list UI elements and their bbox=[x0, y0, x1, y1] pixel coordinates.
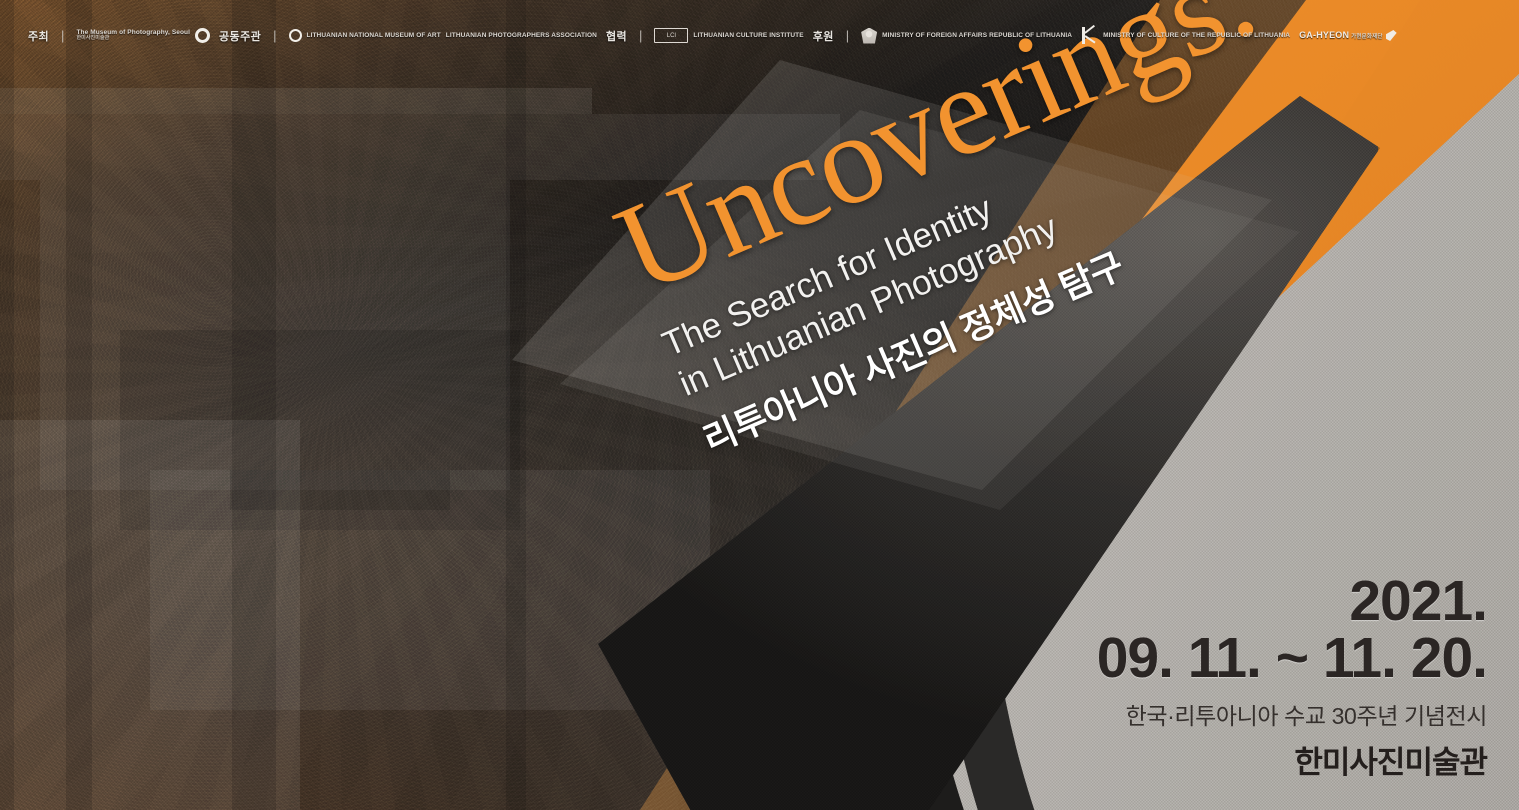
gahyeon-name: GA-HYEON bbox=[1299, 30, 1349, 40]
k-mark-icon bbox=[1081, 26, 1098, 45]
museum-logo-name-kr: 한미사진미술관 bbox=[76, 36, 190, 42]
logo-museum-of-photography-seoul: The Museum of Photography, Seoul 한미사진미술관 bbox=[76, 28, 210, 43]
co-organizer-logo-name: LITHUANIAN NATIONAL MUSEUM OF ART bbox=[307, 32, 441, 40]
credit-separator: | bbox=[846, 28, 849, 43]
credit-label-host: 주최 bbox=[28, 28, 49, 44]
exhibition-note: 한국·리투아니아 수교 30주년 기념전시 bbox=[1097, 697, 1487, 731]
credit-separator: | bbox=[639, 28, 642, 43]
sponsor-logo-name-2: MINISTRY OF CULTURE OF THE REPUBLIC OF L… bbox=[1103, 32, 1290, 40]
gahyeon-mark-icon bbox=[1386, 30, 1397, 41]
credit-bar: 주최 | The Museum of Photography, Seoul 한미… bbox=[28, 26, 1397, 45]
exhibition-poster: Uncoverings. The Search for Identity in … bbox=[0, 0, 1519, 810]
credit-separator: | bbox=[273, 28, 276, 43]
co-organizer-logo-name-2: LITHUANIAN PHOTOGRAPHERS ASSOCIATION bbox=[446, 32, 597, 40]
logo-lithuanian-culture-institute: LCI LITHUANIAN CULTURE INSTITUTE bbox=[654, 28, 803, 43]
credit-label-cooperation: 협력 bbox=[606, 28, 627, 44]
exhibition-year: 2021. bbox=[1097, 574, 1487, 629]
exhibition-info-block: 2021. 09. 11. ~ 11. 20. 한국·리투아니아 수교 30주년… bbox=[1097, 574, 1487, 782]
credit-separator: | bbox=[61, 28, 64, 43]
open-book-icon: LCI bbox=[654, 28, 688, 43]
logo-lithuanian-museums: LITHUANIAN NATIONAL MUSEUM OF ART LITHUA… bbox=[289, 29, 597, 42]
crest-icon bbox=[861, 28, 877, 44]
gahyeon-name-kr: 가현문화재단 bbox=[1351, 34, 1383, 40]
credit-label-co-organizer: 공동주관 bbox=[219, 28, 261, 44]
logo-ministry-foreign-affairs-lithuania: MINISTRY OF FOREIGN AFFAIRS REPUBLIC OF … bbox=[861, 28, 1072, 44]
exhibition-date-range: 09. 11. ~ 11. 20. bbox=[1097, 629, 1487, 688]
credit-label-sponsor: 후원 bbox=[813, 28, 834, 44]
logo-gahyeon-foundation: GA-HYEON 가현문화재단 bbox=[1299, 30, 1397, 41]
exhibition-venue: 한미사진미술관 bbox=[1097, 737, 1487, 782]
sponsor-logo-name: MINISTRY OF FOREIGN AFFAIRS REPUBLIC OF … bbox=[882, 32, 1072, 40]
logo-ministry-culture-lithuania: MINISTRY OF CULTURE OF THE REPUBLIC OF L… bbox=[1081, 26, 1290, 45]
ring-o-icon bbox=[289, 29, 302, 42]
cooperation-logo-name: LITHUANIAN CULTURE INSTITUTE bbox=[693, 32, 803, 40]
ring-o-icon bbox=[195, 28, 210, 43]
